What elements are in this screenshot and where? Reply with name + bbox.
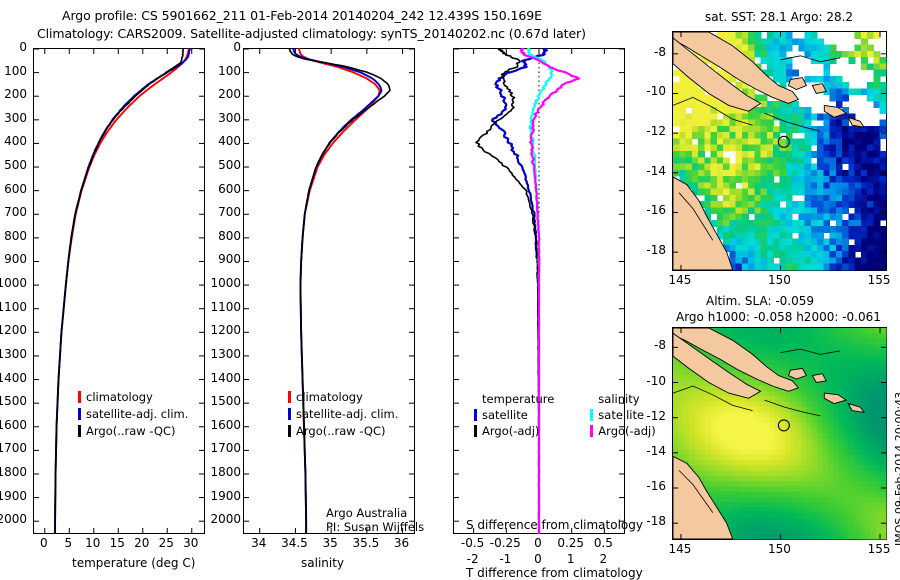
x-tick-label: 2 bbox=[600, 552, 608, 566]
depth-tick-label: 1000 bbox=[0, 276, 27, 290]
legend-item: satellite-adj. clim. bbox=[78, 407, 188, 421]
legend-swatch-argo bbox=[288, 425, 291, 437]
longitude-tick-label: 145 bbox=[669, 542, 692, 556]
depth-tick-label: 1700 bbox=[0, 441, 27, 455]
imos-timestamp-container: IMOS 09-Feb-2014 20:00:43 bbox=[893, 546, 900, 559]
depth-tick-label: 500 bbox=[4, 158, 27, 172]
longitude-tick-label: 150 bbox=[768, 542, 791, 556]
depth-tick-label: 2000 bbox=[210, 512, 241, 526]
legend-swatch-sal-argo bbox=[590, 425, 593, 437]
difference-plot-area bbox=[454, 49, 624, 533]
latitude-tick-label: -14 bbox=[646, 164, 666, 178]
depth-tick-label: 1400 bbox=[210, 371, 241, 385]
depth-tick-label: 0 bbox=[233, 40, 241, 54]
legend-item: satellite bbox=[474, 408, 554, 422]
x-tick-label: 0.25 bbox=[557, 536, 584, 550]
x-tick-label: 20 bbox=[134, 536, 149, 550]
legend-label: climatology bbox=[296, 390, 363, 404]
depth-tick-label: 600 bbox=[4, 182, 27, 196]
sst-map-yticklabels: -8-10-12-14-16-18 bbox=[640, 31, 670, 271]
argo-pi-credit: PI: Susan Wijffels bbox=[326, 520, 424, 534]
depth-tick-label: 1300 bbox=[0, 347, 27, 361]
legend-label: Argo(..raw -QC) bbox=[86, 424, 176, 438]
temperature-xticklabels: 051015202530 bbox=[33, 536, 205, 552]
difference-legend: temperature satellite Argo(-adj) salinit… bbox=[474, 392, 656, 438]
x-tick-label: 0.5 bbox=[594, 536, 613, 550]
legend-label: satellite-adj. clim. bbox=[296, 407, 398, 421]
depth-tick-label: 1100 bbox=[0, 300, 27, 314]
legend-swatch-sal-satellite bbox=[590, 409, 593, 421]
x-tick-label: 36 bbox=[394, 536, 409, 550]
depth-tick-label: 1900 bbox=[210, 489, 241, 503]
difference-salinity-xticklabels: -0.5-0.2500.250.5 bbox=[453, 536, 625, 551]
legend-swatch-climatology bbox=[78, 391, 81, 403]
x-tick-label: 25 bbox=[159, 536, 174, 550]
difference-salinity-axis-label: S difference from climatology bbox=[466, 518, 643, 532]
x-tick-label: 34 bbox=[251, 536, 266, 550]
x-tick-label: 5 bbox=[64, 536, 72, 550]
longitude-tick-label: 155 bbox=[868, 542, 891, 556]
latitude-tick-label: -16 bbox=[646, 203, 666, 217]
sst-map-title: sat. SST: 28.1 Argo: 28.2 bbox=[705, 10, 853, 24]
x-tick-label: 0 bbox=[534, 552, 542, 566]
depth-tick-label: 800 bbox=[4, 229, 27, 243]
legend-swatch-argo bbox=[78, 425, 81, 437]
x-tick-label: -1 bbox=[499, 552, 511, 566]
latitude-tick-label: -10 bbox=[646, 374, 666, 388]
legend-label: satellite-adj. clim. bbox=[86, 407, 188, 421]
depth-tick-label: 600 bbox=[218, 182, 241, 196]
legend-label: climatology bbox=[86, 390, 153, 404]
temperature-plot-area bbox=[34, 49, 204, 533]
latitude-tick-label: -10 bbox=[646, 84, 666, 98]
difference-temperature-xticklabels: -2-1012 bbox=[453, 552, 625, 567]
depth-tick-label: 0 bbox=[19, 40, 27, 54]
difference-legend-temperature-column: temperature satellite Argo(-adj) bbox=[474, 392, 554, 438]
longitude-tick-label: 150 bbox=[768, 273, 791, 287]
legend-label: Argo(..raw -QC) bbox=[296, 424, 386, 438]
depth-tick-label: 900 bbox=[218, 252, 241, 266]
legend-item: Argo(..raw -QC) bbox=[288, 424, 398, 438]
depth-tick-label: 1700 bbox=[210, 441, 241, 455]
sst-map-panel bbox=[672, 31, 887, 271]
depth-tick-label: 1100 bbox=[210, 300, 241, 314]
x-tick-label: 30 bbox=[183, 536, 198, 550]
x-tick-label: -0.5 bbox=[461, 536, 484, 550]
latitude-tick-label: -14 bbox=[646, 444, 666, 458]
latitude-tick-label: -8 bbox=[654, 45, 666, 59]
latitude-tick-label: -8 bbox=[654, 338, 666, 352]
depth-tick-label: 1800 bbox=[210, 465, 241, 479]
x-tick-label: 1 bbox=[567, 552, 575, 566]
salinity-xticklabels: 3434.53535.536 bbox=[243, 536, 415, 552]
x-tick-label: -2 bbox=[467, 552, 479, 566]
sla-map-title-line1: Altim. SLA: -0.059 bbox=[706, 294, 814, 308]
sst-map-xticklabels: 145150155 bbox=[672, 273, 887, 289]
depth-tick-label: 1500 bbox=[0, 394, 27, 408]
legend-swatch-satellite-adj bbox=[78, 408, 81, 420]
depth-tick-label: 1600 bbox=[210, 418, 241, 432]
depth-tick-label: 1500 bbox=[210, 394, 241, 408]
figure-title-line1: Argo profile: CS 5901662_211 01-Feb-2014… bbox=[62, 8, 542, 23]
depth-tick-label: 200 bbox=[4, 87, 27, 101]
sla-map-yticklabels: -8-10-12-14-16-18 bbox=[640, 327, 670, 540]
legend-swatch-temp-argo bbox=[474, 425, 477, 437]
latitude-tick-label: -12 bbox=[646, 409, 666, 423]
sla-map-title-line2: Argo h1000: -0.058 h2000: -0.061 bbox=[676, 310, 881, 324]
depth-tick-label: 500 bbox=[218, 158, 241, 172]
depth-tick-label: 400 bbox=[218, 134, 241, 148]
latitude-tick-label: -16 bbox=[646, 479, 666, 493]
longitude-tick-label: 155 bbox=[868, 273, 891, 287]
x-tick-label: 0 bbox=[534, 536, 542, 550]
difference-temperature-axis-label: T difference from climatology bbox=[466, 566, 643, 580]
x-tick-label: 0 bbox=[40, 536, 48, 550]
latitude-tick-label: -18 bbox=[646, 243, 666, 257]
legend-swatch-climatology bbox=[288, 391, 291, 403]
depth-tick-label: 1800 bbox=[0, 465, 27, 479]
depth-tick-label: 700 bbox=[218, 205, 241, 219]
depth-tick-label: 1400 bbox=[0, 371, 27, 385]
sla-map-xticklabels: 145150155 bbox=[672, 542, 887, 558]
legend-header-temperature: temperature bbox=[482, 392, 554, 406]
figure-title-line2: Climatology: CARS2009. Satellite-adjuste… bbox=[37, 26, 586, 41]
salinity-depth-ticklabels: 0100200300400500600700800900100011001200… bbox=[215, 48, 241, 534]
x-tick-label: 35.5 bbox=[352, 536, 379, 550]
depth-tick-label: 900 bbox=[4, 252, 27, 266]
depth-tick-label: 1300 bbox=[210, 347, 241, 361]
legend-item: Argo(..raw -QC) bbox=[78, 424, 188, 438]
depth-tick-label: 1900 bbox=[0, 489, 27, 503]
x-tick-label: 34.5 bbox=[281, 536, 308, 550]
salinity-axis-label: salinity bbox=[301, 556, 344, 570]
salinity-profile-panel bbox=[243, 48, 415, 534]
x-tick-label: 35 bbox=[323, 536, 338, 550]
temperature-depth-ticklabels: 0100200300400500600700800900100011001200… bbox=[0, 48, 31, 534]
depth-tick-label: 100 bbox=[4, 64, 27, 78]
depth-tick-label: 1200 bbox=[210, 323, 241, 337]
depth-tick-label: 300 bbox=[218, 111, 241, 125]
difference-profile-panel bbox=[453, 48, 625, 534]
legend-label: Argo(-adj) bbox=[482, 424, 539, 438]
legend-swatch-temp-satellite bbox=[474, 409, 477, 421]
temperature-profile-panel bbox=[33, 48, 205, 534]
latitude-tick-label: -18 bbox=[646, 514, 666, 528]
longitude-tick-label: 145 bbox=[669, 273, 692, 287]
depth-tick-label: 2000 bbox=[0, 512, 27, 526]
legend-swatch-satellite-adj bbox=[288, 408, 291, 420]
temperature-axis-label: temperature (deg C) bbox=[72, 556, 195, 570]
temperature-legend: climatology satellite-adj. clim. Argo(..… bbox=[78, 390, 188, 438]
depth-tick-label: 200 bbox=[218, 87, 241, 101]
depth-tick-label: 800 bbox=[218, 229, 241, 243]
imos-timestamp: IMOS 09-Feb-2014 20:00:43 bbox=[893, 392, 900, 546]
depth-tick-label: 1000 bbox=[210, 276, 241, 290]
depth-tick-label: 100 bbox=[218, 64, 241, 78]
legend-item: Argo(-adj) bbox=[474, 424, 554, 438]
salinity-plot-area bbox=[244, 49, 414, 533]
legend-label: satellite bbox=[482, 408, 528, 422]
x-tick-label: 10 bbox=[85, 536, 100, 550]
salinity-legend: climatology satellite-adj. clim. Argo(..… bbox=[288, 390, 398, 438]
sst-map-area bbox=[673, 32, 886, 270]
x-tick-label: 15 bbox=[110, 536, 125, 550]
legend-item: climatology bbox=[78, 390, 188, 404]
depth-tick-label: 300 bbox=[4, 111, 27, 125]
depth-tick-label: 1200 bbox=[0, 323, 27, 337]
latitude-tick-label: -12 bbox=[646, 124, 666, 138]
sla-map-panel bbox=[672, 327, 887, 540]
legend-item: satellite-adj. clim. bbox=[288, 407, 398, 421]
sla-map-area bbox=[673, 328, 886, 539]
depth-tick-label: 400 bbox=[4, 134, 27, 148]
depth-tick-label: 1600 bbox=[0, 418, 27, 432]
legend-label: satellite bbox=[598, 408, 644, 422]
x-tick-label: -0.25 bbox=[490, 536, 521, 550]
argo-australia-credit: Argo Australia bbox=[326, 506, 407, 520]
depth-tick-label: 700 bbox=[4, 205, 27, 219]
legend-item: climatology bbox=[288, 390, 398, 404]
